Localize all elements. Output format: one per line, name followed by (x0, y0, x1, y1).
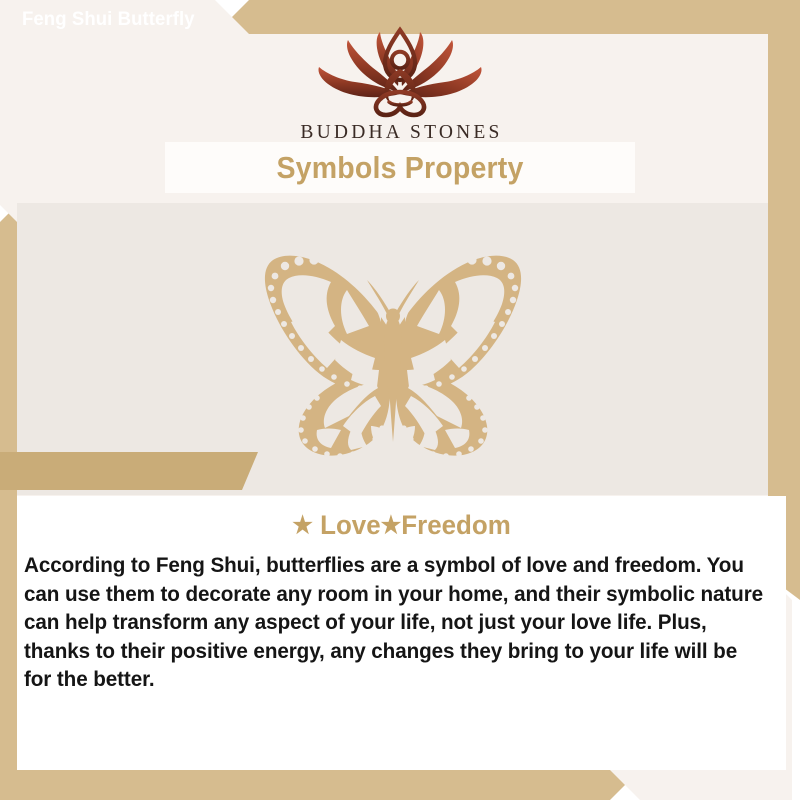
section-label-text: Feng Shui Butterfly (22, 0, 195, 38)
star-icon-left: ★ (292, 512, 313, 539)
page-title: Symbols Property (184, 142, 616, 193)
tagline-word-freedom: Freedom (401, 510, 510, 540)
brand-name-text: BUDDHA STONES (280, 122, 520, 144)
description-panel: ★ Love★Freedom According to Feng Shui, b… (17, 496, 786, 770)
lotus-meditation-figure-icon (307, 22, 493, 120)
decorative-band-left (0, 205, 17, 800)
tagline: ★ Love★Freedom (32, 510, 770, 541)
page-title-banner: Symbols Property (165, 142, 635, 193)
description-paragraph: According to Feng Shui, butterflies are … (24, 552, 769, 695)
brand-logo: BUDDHA STONES (280, 22, 520, 144)
star-icon-middle: ★ (381, 512, 402, 539)
tagline-word-love: Love (320, 510, 381, 540)
butterfly-icon (223, 230, 563, 460)
section-label-ribbon (0, 452, 258, 490)
product-infographic-page: BUDDHA STONES Symbols Property (0, 0, 800, 800)
feature-image-panel (17, 203, 768, 495)
decorative-band-bottom (0, 770, 640, 800)
